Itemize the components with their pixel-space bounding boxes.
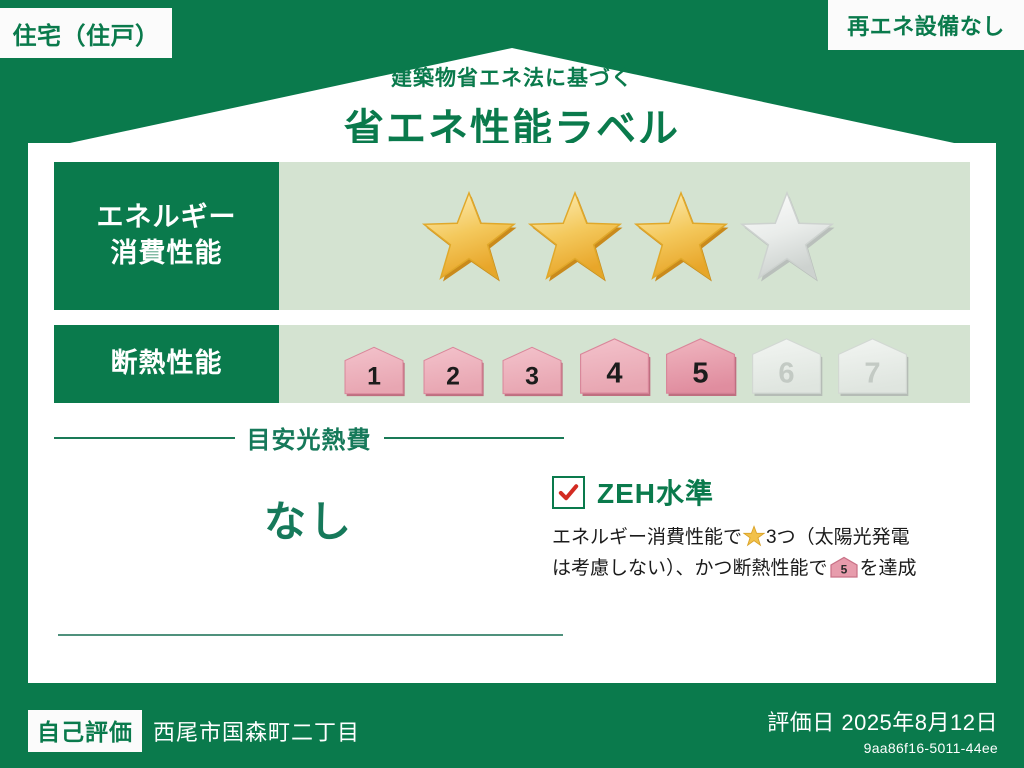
badge-renewable-energy: 再エネ設備なし [828,0,1024,50]
house-level-icon: 5 [829,556,859,578]
zeh-desc-star-count: 3つ（太陽光発電 [766,527,910,548]
check-icon [557,481,580,504]
zeh-desc-part3: を達成 [860,558,917,579]
zeh-standard-block: ZEH水準 エネルギー消費性能で3つ（太陽光発電 は考慮しない）、かつ断熱性能で… [552,472,972,585]
insulation-level-value: 1 [367,364,381,391]
insulation-level-active: 4 [575,335,654,397]
star-icon-filled [420,189,518,284]
property-address: 西尾市国森町二丁目 [153,715,360,747]
star-icon-empty [738,189,836,284]
insulation-level-active: 2 [417,344,489,397]
zeh-description: エネルギー消費性能で3つ（太陽光発電 は考慮しない）、かつ断熱性能で5を達成 [552,523,972,585]
footer-left: 自己評価 西尾市国森町二丁目 [28,710,360,752]
zeh-title-row: ZEH水準 [552,472,972,512]
insulation-level-value: 4 [606,357,622,389]
assessment-type-badge: 自己評価 [28,710,142,752]
title-subtitle: 建築物省エネ法に基づく [0,62,1024,92]
zeh-desc-part1: エネルギー消費性能で [552,527,742,548]
insulation-performance-row: 断熱性能 1234567 [54,325,970,403]
energy-star-rating [279,162,970,310]
heading-rule-left [54,437,235,439]
insulation-label-text: 断熱性能 [111,346,223,382]
assessment-date-label: 評価日 [767,710,835,735]
utility-cost-bottom-rule [58,634,563,636]
energy-performance-row: エネルギー 消費性能 [54,162,970,310]
badge-building-type-text: 住宅（住戸） [13,16,160,51]
energy-label-line1: エネルギー [97,200,237,236]
insulation-level-value: 6 [778,357,794,389]
label-card: エネルギー 消費性能 断熱性能 1234567 目安光熱費 なし [28,143,996,683]
badge-building-type: 住宅（住戸） [0,8,172,58]
heading-rule-right [384,437,565,439]
badge-renewable-energy-text: 再エネ設備なし [847,9,1005,41]
insulation-performance-label: 断熱性能 [54,325,279,403]
zeh-desc-part2: は考慮しない）、かつ断熱性能で [552,558,828,579]
insulation-level-value: 3 [525,364,539,391]
star-icon-filled [632,189,730,284]
star-icon-filled [526,189,624,284]
energy-label-line2: 消費性能 [111,236,223,272]
zeh-checkbox[interactable] [552,476,585,509]
energy-performance-label: 住宅（住戸） 再エネ設備なし 建築物省エネ法に基づく 省エネ性能ラベル エネルギ… [0,0,1024,768]
assessment-date-value: 2025年8月12日 [841,710,998,735]
utility-cost-value: なし [54,488,564,549]
insulation-level-active: 3 [496,344,568,397]
footer-right: 評価日 2025年8月12日 9aa86f16-5011-44ee [767,705,998,756]
insulation-level-scale: 1234567 [279,325,970,403]
page-title: 建築物省エネ法に基づく 省エネ性能ラベル [0,62,1024,154]
utility-cost-heading: 目安光熱費 [54,420,564,455]
assessment-date: 評価日 2025年8月12日 [767,705,998,737]
label-id: 9aa86f16-5011-44ee [767,740,998,756]
insulation-level-value: 2 [446,364,460,391]
energy-performance-label: エネルギー 消費性能 [54,162,279,310]
insulation-level-inactive: 6 [747,335,826,397]
zeh-title-text: ZEH水準 [597,472,714,512]
insulation-level-value: 5 [692,357,708,389]
utility-cost-heading-text: 目安光熱費 [235,420,384,455]
insulation-level-active: 1 [338,344,410,397]
insulation-level-inactive: 7 [833,335,912,397]
svg-text:5: 5 [840,562,847,576]
star-icon [743,525,765,547]
insulation-level-value: 7 [864,357,880,389]
insulation-level-active: 5 [661,335,740,397]
